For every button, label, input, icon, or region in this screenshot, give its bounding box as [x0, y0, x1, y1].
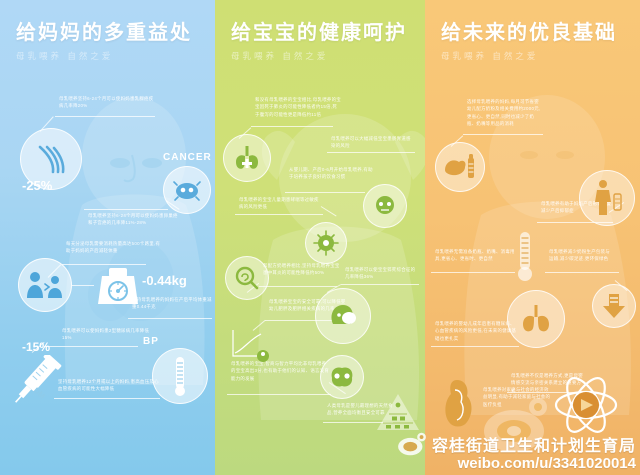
body-shape-icon-badge: [579, 170, 635, 226]
infographic-poster: 给妈妈的多重益处 母乳喂养 自然之爱 母乳喂养坚持6-24个月可以使妈妈患乳腺癌…: [0, 0, 640, 475]
watermark-org: 容桂街道卫生和计划生育局: [432, 432, 636, 456]
panel-mother: 给妈妈的多重益处 母乳喂养 自然之爱 母乳喂养坚持6-24个月可以使妈妈患乳腺癌…: [0, 0, 215, 475]
thermometer-icon-badge: [152, 348, 208, 404]
connector-iq: [227, 394, 331, 395]
connector-bottle: [431, 272, 515, 273]
stat-breast-cancer: -25%: [22, 178, 52, 193]
growth-chart-icon: [229, 326, 273, 364]
mother-child-icon-badge: [18, 258, 72, 312]
note-breast-cancer: 母乳喂养坚持6-24个月可以使妈妈患乳腺癌疾病几率降20%: [59, 95, 157, 110]
connector-otitis: [259, 286, 337, 287]
note-asthma: 母乳喂养的宝宝儿童期患哮喘等过敏疾病的风险更低: [239, 196, 323, 211]
note-otitis: 和配方奶喂养相比,坚持母乳喂养宝宝患中耳炎的可能性降低约50%: [263, 262, 341, 277]
note-calories: 每天分泌母乳需要消耗热量高达500卡路里,有助于妈妈的产后减轻体重: [66, 240, 162, 255]
note-env: 母乳喂养减少奶粉生产包装与运输,减少碳足迹,更环保绿色: [549, 248, 613, 263]
bone-icon: [439, 378, 479, 430]
connector-env: [545, 272, 619, 273]
cancer-cell-icon-badge: [163, 166, 211, 214]
panel-mother-title: 给妈妈的多重益处: [16, 22, 215, 44]
connector-chronic: [431, 346, 519, 347]
panel-baby-title: 给宝宝的健康呵护: [231, 22, 425, 44]
thermometer-icon: [170, 355, 190, 397]
connector-ovarian: [84, 209, 168, 210]
bacteria-icon-badge: [363, 184, 407, 228]
panel-mother-header: 给妈妈的多重益处 母乳喂养 自然之爱: [0, 0, 215, 61]
connector-asthma: [235, 214, 323, 215]
watermark-org-row: 容桂街道卫生和计划生育局: [397, 431, 636, 457]
thermometer-icon: [513, 228, 537, 284]
note-sids: 母乳喂养可以使宝宝猝死综合征的几率降低36%: [345, 266, 417, 281]
note-cost: 选择母乳喂养的妈妈,每月可节省婴幼儿配方奶粉及相关费用约2000元,更省心、更自…: [467, 98, 543, 127]
body-shape-icon: [590, 178, 624, 218]
note-bottle: 母乳喂养无需准备奶瓶、奶嘴、消毒用具,更省心、更省时、更自然: [435, 248, 515, 263]
note-respiratory: 和没有母乳喂养的宝宝相比,母乳喂养的宝宝因死于肺炎的可能性降低者约15倍,死于腹…: [255, 96, 341, 118]
download-arrow-icon-badge: [592, 284, 636, 328]
baby-head-icon: [325, 298, 361, 334]
weight-scale-icon: [94, 258, 142, 308]
panel-mother-subtitle: 母乳喂养 自然之爱: [16, 51, 215, 61]
panel-baby: 给宝宝的健康呵护 母乳喂养 自然之爱 和没有母乳喂养的宝宝相比,母乳喂养的宝宝因…: [215, 0, 425, 475]
connector-habits: [285, 192, 365, 193]
ear-icon-badge: [225, 256, 269, 300]
lungs-icon-badge: [223, 134, 271, 182]
connector-cost: [463, 134, 543, 135]
panel-future-title: 给未来的优良基础: [441, 22, 640, 44]
panel-baby-subtitle: 母乳喂养 自然之爱: [231, 51, 425, 61]
mother-child-icon: [26, 268, 64, 302]
connector-weight-left: [72, 285, 94, 286]
connector-infection: [327, 152, 415, 153]
bottle-money-icon-badge: [435, 142, 485, 192]
connector-respiratory: [251, 126, 333, 127]
watermark: 容桂街道卫生和计划生育局 weibo.com/u/3341020014: [397, 431, 640, 475]
baby-head-icon-badge: [315, 288, 371, 344]
note-diabetes: 母乳喂养可以使妈妈患2型糖尿病几率降低15%: [62, 327, 154, 342]
panel-future-subtitle: 母乳喂养 自然之爱: [441, 51, 640, 61]
tag-bp: BP: [143, 336, 159, 347]
download-arrow-icon: [602, 292, 626, 320]
cancer-cell-icon: [171, 174, 203, 206]
stat-diabetes: -15%: [22, 340, 50, 354]
connector-diabetes: [44, 346, 138, 347]
brain-icon-badge: [320, 355, 364, 399]
panel-future-header: 给未来的优良基础 母乳喂养 自然之爱: [425, 0, 640, 61]
note-ovarian-cancer: 母乳喂养坚持6-24个月可以使妈妈患卵巢癌和子宫癌的几率降11%-28%: [88, 212, 180, 227]
bacteria-icon: [371, 192, 399, 220]
virus-icon-badge: [305, 222, 347, 264]
lungs-icon: [519, 302, 553, 336]
tag-cancer: CANCER: [163, 152, 212, 163]
lungs-icon: [232, 143, 262, 173]
brain-icon: [328, 364, 356, 390]
food-pyramid-icon: [375, 392, 421, 432]
bottle-money-icon: [443, 152, 477, 182]
stat-weight: -0.44kg: [142, 273, 187, 288]
note-infection: 母乳喂养可以大幅减低宝宝患肠胃道感染的风险: [331, 135, 413, 150]
atom-icon: [551, 372, 621, 438]
note-bp: 坚持母乳喂养12个月或以上的妈妈,患高血压及心血管疾病的可能性大幅降低: [58, 378, 162, 393]
syringe-icon: DM: [12, 355, 70, 417]
weibo-logo-icon: [397, 431, 427, 457]
connector-asthma-leg: [321, 206, 337, 216]
connector-sids: [341, 284, 419, 285]
lungs-icon-badge: [507, 290, 565, 348]
connector-breast-cancer: [55, 116, 155, 117]
ear-icon: [233, 264, 261, 292]
breast-icon: [31, 139, 71, 179]
panel-baby-header: 给宝宝的健康呵护 母乳喂养 自然之爱: [215, 0, 425, 61]
note-habits: 从婴儿期、产后0-6月开始母乳喂养,有助于培养孩子良好的饮食习惯: [289, 166, 373, 181]
virus-icon: [313, 230, 339, 256]
note-weight: 坚持母乳喂养的妈妈在产后平均体重减重0.44千克: [132, 296, 212, 311]
connector-weight: [128, 318, 212, 319]
watermark-url: weibo.com/u/3341020014: [458, 455, 636, 472]
